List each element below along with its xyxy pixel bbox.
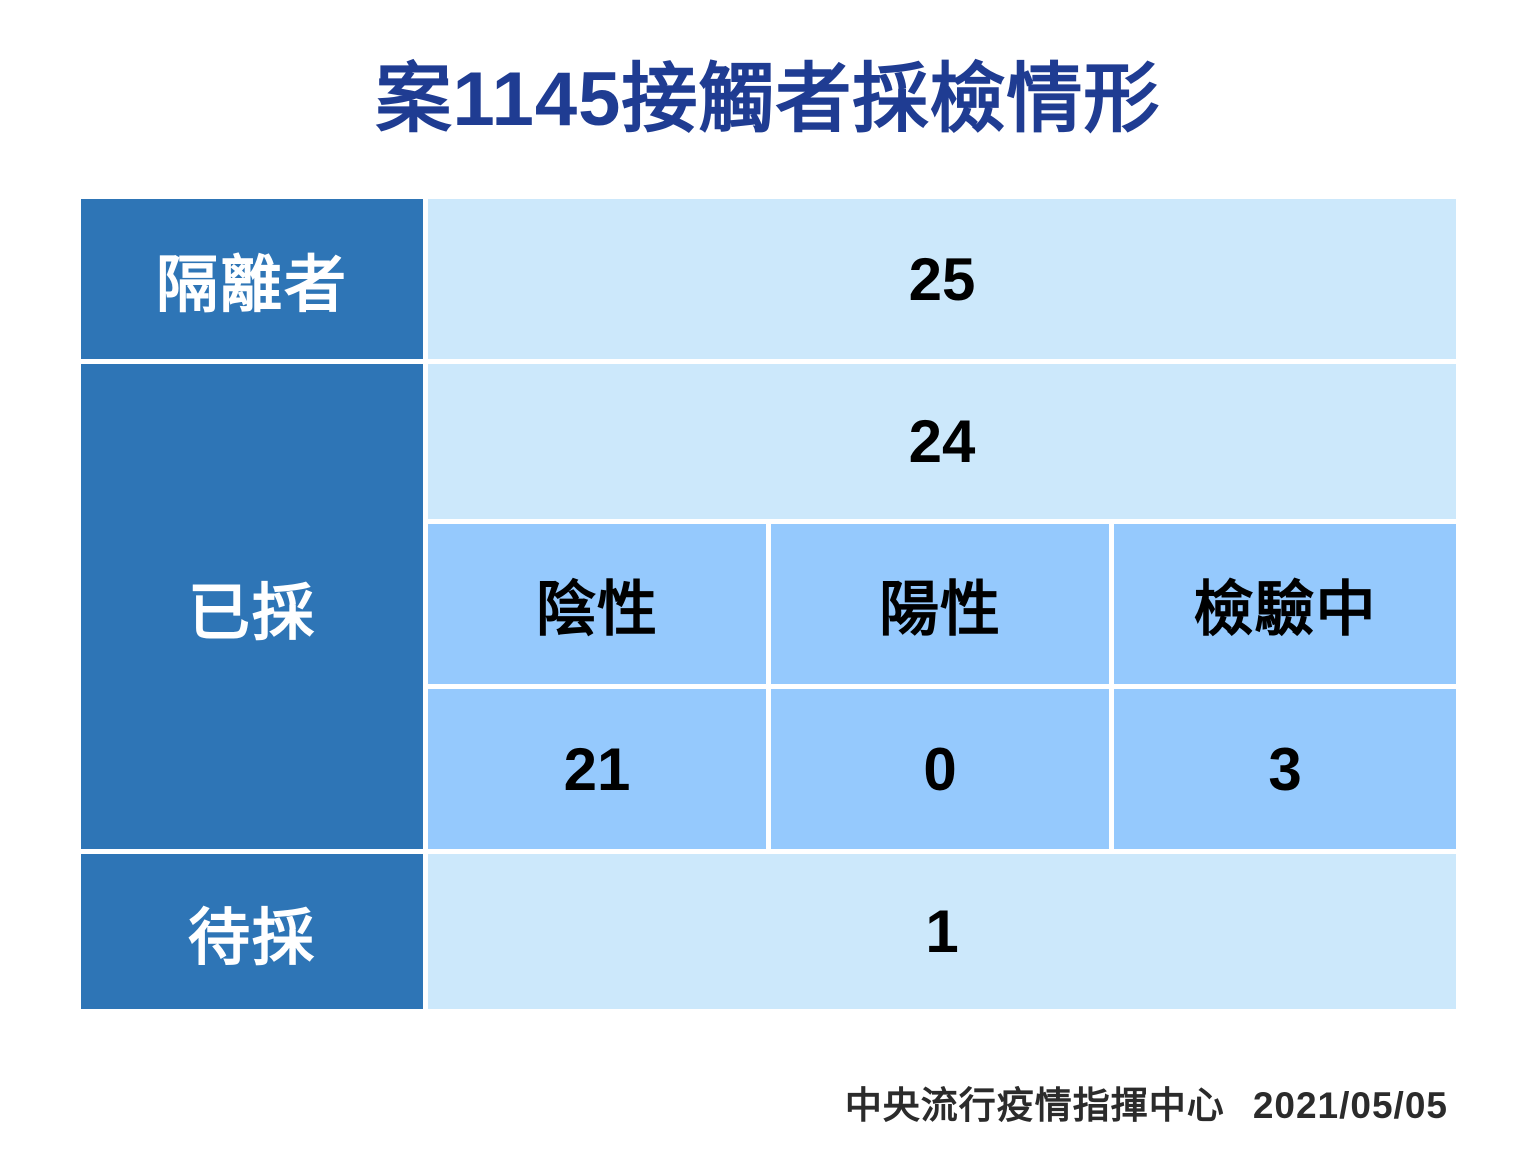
footer: 中央流行疫情指揮中心 2021/05/05 bbox=[845, 1075, 1448, 1129]
row-label-pending: 待採 bbox=[81, 854, 423, 1009]
row-value-isolated: 25 bbox=[428, 199, 1456, 359]
footer-date: 2021/05/05 bbox=[1253, 1085, 1448, 1127]
contact-testing-table: 隔離者 25 已採 24 陰性 陽性 檢驗中 21 0 3 待採 1 bbox=[81, 199, 1456, 1009]
row-label-isolated: 隔離者 bbox=[81, 199, 423, 359]
row-label-collected: 已採 bbox=[81, 364, 423, 849]
subvalue-testing: 3 bbox=[1114, 689, 1456, 849]
subvalue-negative: 21 bbox=[428, 689, 766, 849]
subheader-negative: 陰性 bbox=[428, 524, 766, 684]
footer-organization: 中央流行疫情指揮中心 bbox=[845, 1075, 1225, 1129]
page-title: 案1145接觸者採檢情形 bbox=[0, 62, 1536, 138]
subvalue-positive: 0 bbox=[771, 689, 1109, 849]
subheader-testing: 檢驗中 bbox=[1114, 524, 1456, 684]
subheader-positive: 陽性 bbox=[771, 524, 1109, 684]
row-value-pending: 1 bbox=[428, 854, 1456, 1009]
row-value-collected-total: 24 bbox=[428, 364, 1456, 519]
